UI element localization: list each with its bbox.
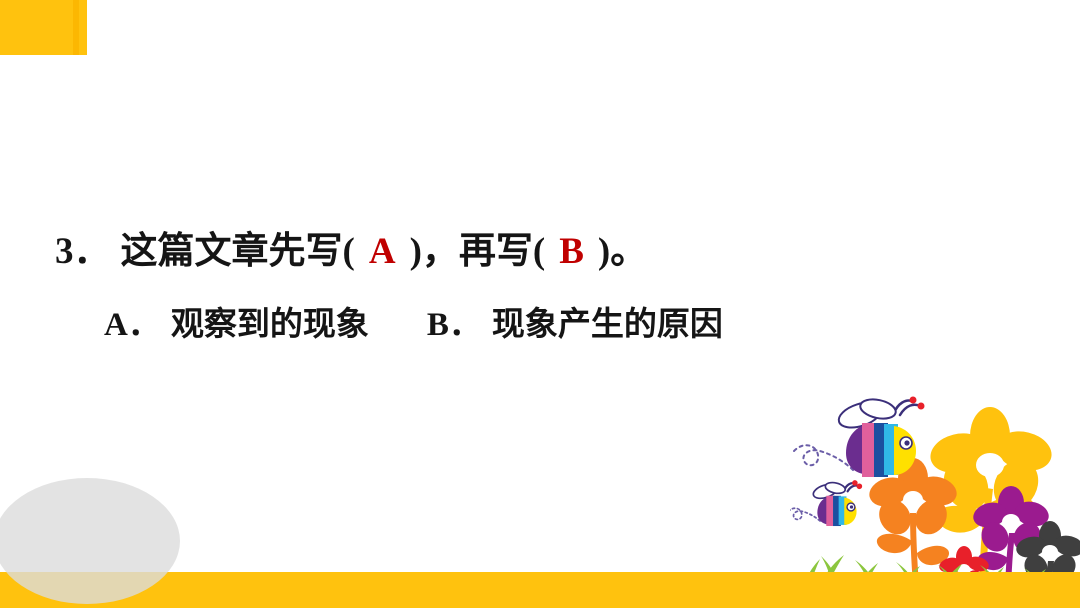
slide-canvas: 3．这篇文章先写(A)，再写(B)。 A．观察到的现象B．现象产生的原因 bbox=[0, 0, 1080, 608]
question-comma: ， bbox=[422, 231, 459, 272]
question-stem-text-1: 这篇文章先写 bbox=[121, 231, 343, 272]
question-stem-line: 3．这篇文章先写(A)，再写(B)。 bbox=[0, 228, 1080, 276]
option-a-letter: A bbox=[104, 307, 128, 343]
bee-large bbox=[794, 396, 925, 477]
yellow-corner-tab-edge bbox=[73, 0, 79, 55]
option-row: A．观察到的现象B．现象产生的原因 bbox=[0, 302, 1080, 348]
answer-blank-2-open-paren: ( bbox=[533, 231, 545, 272]
question-number: 3 bbox=[55, 231, 74, 272]
answer-blank-2-value: B bbox=[545, 231, 598, 272]
gray-corner-ellipse bbox=[0, 478, 180, 604]
option-b-text: 现象产生的原因 bbox=[492, 307, 723, 343]
bee-small bbox=[790, 480, 862, 526]
option-b-letter: B bbox=[427, 307, 449, 343]
answer-blank-2-close-paren: ) bbox=[598, 231, 610, 272]
answer-blank-1-open-paren: ( bbox=[343, 231, 355, 272]
question-stem-text-2: 再写 bbox=[459, 231, 533, 272]
option-a-separator: ． bbox=[128, 307, 171, 343]
answer-blank-1-close-paren: ) bbox=[410, 231, 422, 272]
yellow-corner-tab bbox=[0, 0, 87, 55]
option-b-separator: ． bbox=[449, 307, 492, 343]
question-period: 。 bbox=[610, 231, 647, 272]
answer-blank-1-value: A bbox=[355, 231, 410, 272]
question-block: 3．这篇文章先写(A)，再写(B)。 A．观察到的现象B．现象产生的原因 bbox=[0, 228, 1080, 348]
option-a-text: 观察到的现象 bbox=[171, 307, 369, 343]
question-number-separator: ． bbox=[74, 231, 121, 272]
